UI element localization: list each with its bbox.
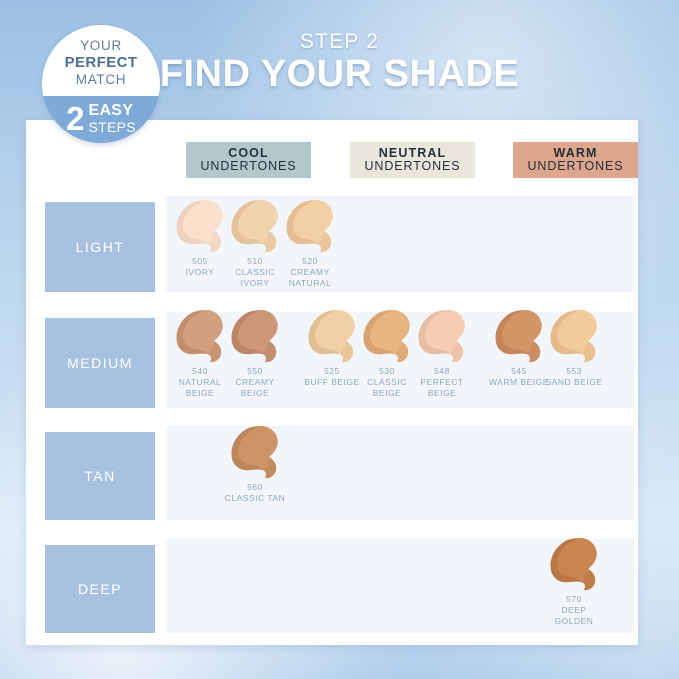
row-label-text: DEEP	[78, 581, 122, 597]
undertone-header-neutral: NEUTRALUNDERTONES	[350, 142, 475, 178]
foundation-smear-icon	[175, 308, 225, 364]
shade-code: 570	[542, 594, 606, 605]
shade-swatch[interactable]: 520CREAMY NATURAL	[278, 198, 342, 289]
infographic-root: STEP 2 FIND YOUR SHADE YOUR PERFECT MATC…	[0, 0, 679, 679]
shade-swatch[interactable]: 553SAND BEIGE	[542, 308, 606, 388]
badge-word-easy: EASY	[88, 103, 135, 119]
badge-line-perfect: PERFECT	[42, 54, 160, 72]
foundation-smear-icon	[549, 308, 599, 364]
foundation-smear-icon	[549, 536, 599, 592]
undertone-sublabel: UNDERTONES	[527, 160, 623, 174]
badge-line-match: MATCH	[42, 72, 160, 88]
foundation-smear-icon	[417, 308, 467, 364]
foundation-smear-icon	[230, 308, 280, 364]
badge-words: EASY STEPS	[88, 103, 135, 134]
shade-name: PERFECT BEIGE	[410, 377, 474, 399]
undertone-header-warm: WARMUNDERTONES	[513, 142, 638, 178]
shade-name: SAND BEIGE	[542, 377, 606, 388]
foundation-smear-icon	[494, 308, 544, 364]
foundation-smear-icon	[307, 308, 357, 364]
foundation-smear-icon	[175, 198, 225, 254]
shade-code: 553	[542, 366, 606, 377]
foundation-smear-icon	[230, 198, 280, 254]
shade-code: 560	[223, 482, 287, 493]
shade-swatch[interactable]: 550CREAMY BEIGE	[223, 308, 287, 399]
shade-row-label-medium: MEDIUM	[45, 318, 155, 408]
badge-line-your: YOUR	[42, 38, 160, 54]
perfect-match-badge: YOUR PERFECT MATCH 2 EASY STEPS	[42, 25, 160, 143]
badge-top-text: YOUR PERFECT MATCH	[42, 38, 160, 88]
row-label-text: LIGHT	[76, 239, 125, 255]
shade-row-label-tan: TAN	[45, 432, 155, 520]
shade-row-label-light: LIGHT	[45, 202, 155, 292]
undertone-sublabel: UNDERTONES	[364, 160, 460, 174]
row-label-text: TAN	[84, 468, 115, 484]
shade-name: DEEP GOLDEN	[542, 605, 606, 627]
badge-word-steps: STEPS	[88, 120, 135, 134]
row-label-text: MEDIUM	[67, 355, 133, 371]
badge-number: 2	[66, 102, 84, 135]
undertone-name: NEUTRAL	[379, 147, 446, 161]
undertone-name: COOL	[228, 147, 269, 161]
undertone-sublabel: UNDERTONES	[200, 160, 296, 174]
shade-swatch[interactable]: 570DEEP GOLDEN	[542, 536, 606, 627]
foundation-smear-icon	[362, 308, 412, 364]
shade-code: 548	[410, 366, 474, 377]
shade-swatch[interactable]: 548PERFECT BEIGE	[410, 308, 474, 399]
shade-name: CREAMY BEIGE	[223, 377, 287, 399]
foundation-smear-icon	[285, 198, 335, 254]
shade-name: CREAMY NATURAL	[278, 267, 342, 289]
shade-row-label-deep: DEEP	[45, 545, 155, 633]
shade-swatch[interactable]: 560CLASSIC TAN	[223, 424, 287, 504]
badge-bottom-text: 2 EASY STEPS	[42, 97, 160, 139]
undertone-header-cool: COOLUNDERTONES	[186, 142, 311, 178]
foundation-smear-icon	[230, 424, 280, 480]
shade-name: CLASSIC TAN	[223, 493, 287, 504]
undertone-name: WARM	[554, 147, 598, 161]
shade-code: 550	[223, 366, 287, 377]
shade-code: 520	[278, 256, 342, 267]
